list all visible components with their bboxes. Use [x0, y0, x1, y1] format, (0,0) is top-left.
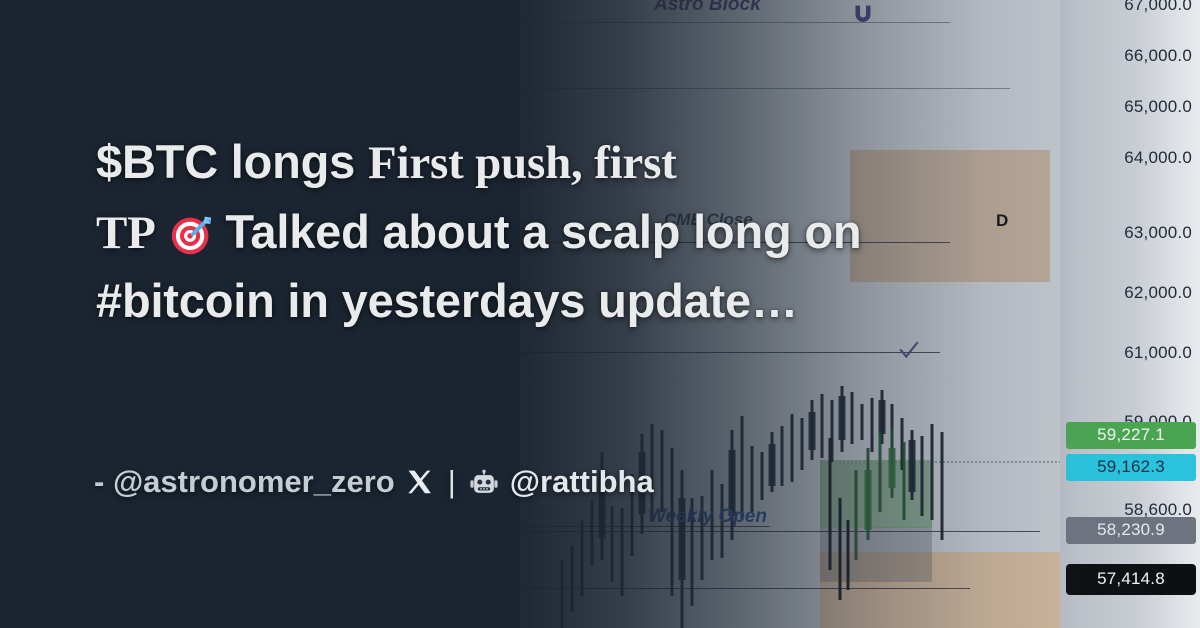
headline-line2-sans: Talked about a scalp long on: [225, 205, 861, 258]
card-content: $BTC longs First push, first TP Talked a…: [0, 0, 1200, 628]
x-logo-icon[interactable]: [406, 468, 434, 496]
site-handle[interactable]: @rattibha: [510, 464, 654, 500]
headline: $BTC longs First push, first TP Talked a…: [96, 128, 1086, 335]
separator: |: [448, 464, 456, 500]
headline-line3-sans: #bitcoin in yesterdays update…: [96, 274, 798, 327]
target-emoji: [169, 207, 213, 251]
headline-line2-serif: TP: [96, 207, 156, 259]
author-handle[interactable]: @astronomer_zero: [113, 464, 395, 500]
attribution-dash: -: [94, 464, 104, 500]
headline-line1-serif: First push, first: [368, 137, 677, 189]
tweet-preview-card: Astro Block CME Close Weekly Open D: [0, 0, 1200, 628]
robot-icon: [469, 469, 499, 499]
headline-line1-sans: $BTC longs: [96, 135, 368, 188]
attribution: - @astronomer_zero |: [94, 464, 654, 500]
